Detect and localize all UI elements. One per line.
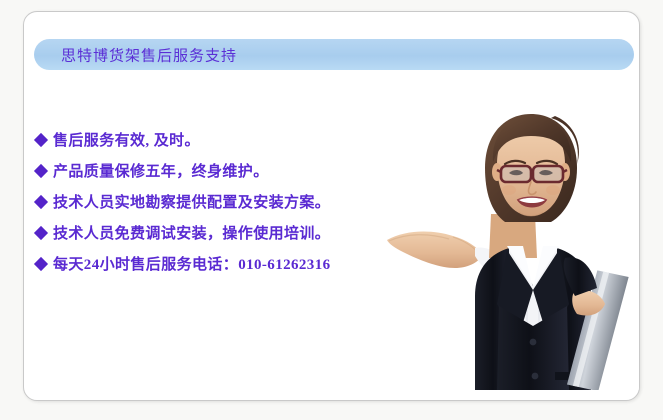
list-item: 技术人员实地勘察提供配置及安装方案。 [36, 186, 436, 217]
diamond-icon [34, 163, 48, 177]
list-item-label: 产品质量保修五年，终身维护。 [53, 160, 269, 181]
list-item-label: 技术人员实地勘察提供配置及安装方案。 [53, 191, 330, 212]
list-item-label: 技术人员免费调试安装，操作使用培训。 [53, 222, 330, 243]
diamond-icon [34, 256, 48, 270]
list-item: 产品质量保修五年，终身维护。 [36, 155, 436, 186]
list-item: 技术人员免费调试安装，操作使用培训。 [36, 217, 436, 248]
list-item: 每天24小时售后服务电话：010-61262316 [36, 248, 436, 279]
diamond-icon [34, 194, 48, 208]
page-title: 思特博货架售后服务支持 [61, 44, 237, 65]
businesswoman-photo [379, 90, 639, 390]
content-card: 思特博货架售后服务支持 售后服务有效, 及时。 产品质量保修五年，终身维护。 技… [23, 11, 640, 401]
diamond-icon [34, 225, 48, 239]
list-item-label: 每天24小时售后服务电话：010-61262316 [53, 253, 331, 274]
list-item: 售后服务有效, 及时。 [36, 124, 436, 155]
head [485, 114, 579, 222]
diamond-icon [34, 132, 48, 146]
service-feature-list: 售后服务有效, 及时。 产品质量保修五年，终身维护。 技术人员实地勘察提供配置及… [36, 124, 436, 279]
page-root: 思特博货架售后服务支持 售后服务有效, 及时。 产品质量保修五年，终身维护。 技… [0, 0, 663, 420]
list-item-label: 售后服务有效, 及时。 [53, 129, 200, 150]
header-banner: 思特博货架售后服务支持 [34, 39, 634, 70]
